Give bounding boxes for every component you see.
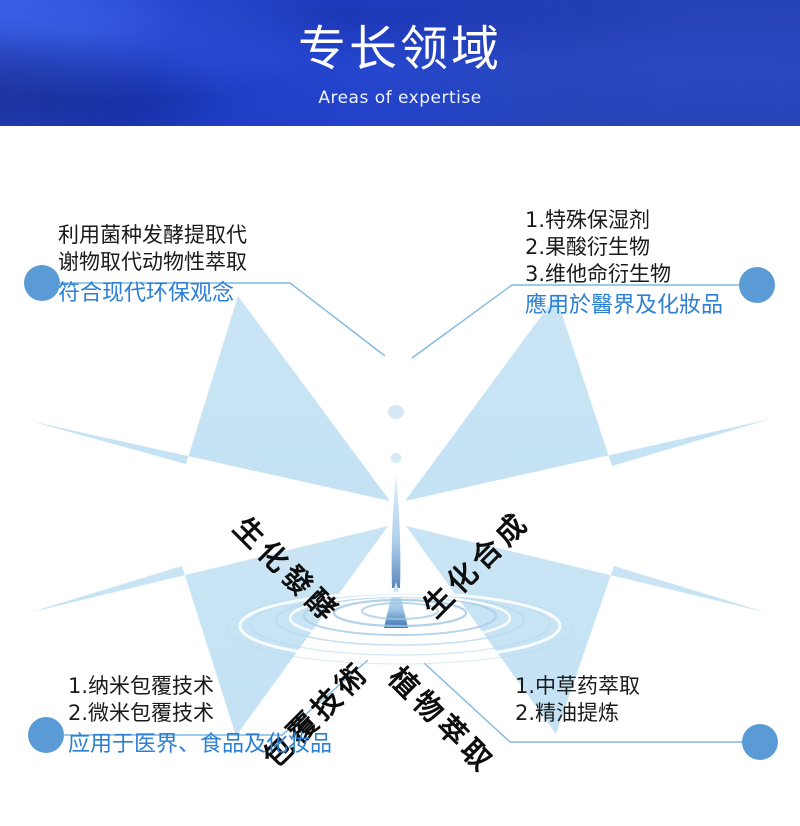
block-tag: 符合现代环保观念 (58, 279, 247, 309)
petal-synthesis (405, 296, 770, 501)
block-line: 3.维他命衍生物 (525, 261, 723, 288)
connector-dot-bottom-right (742, 724, 778, 760)
block-line: 1.纳米包覆技术 (68, 673, 332, 700)
petal-fermentation (30, 296, 390, 501)
block-line: 2.微米包覆技术 (68, 700, 332, 727)
block-tag: 應用於醫界及化妝品 (525, 291, 723, 321)
text-block-top-right: 1.特殊保湿剂 2.果酸衍生物 3.维他命衍生物 應用於醫界及化妝品 (525, 207, 723, 321)
text-block-bottom-left: 1.纳米包覆技术 2.微米包覆技术 应用于医界、食品及化妆品 (68, 673, 332, 760)
text-block-bottom-right: 1.中草药萃取 2.精油提炼 (515, 673, 640, 727)
block-line: 1.中草药萃取 (515, 673, 640, 700)
page-subtitle: Areas of expertise (0, 88, 800, 108)
connector-dot-top-right (739, 267, 775, 303)
banner-inner: 专长领域 Areas of expertise (0, 0, 800, 126)
block-line: 2.果酸衍生物 (525, 234, 723, 261)
block-tag: 应用于医界、食品及化妆品 (68, 730, 332, 760)
page-title: 专长领域 (0, 22, 800, 76)
connector-dot-top-left (24, 265, 60, 301)
block-line: 2.精油提炼 (515, 700, 640, 727)
block-line: 利用菌种发酵提取代 (58, 222, 247, 249)
connector-dot-bottom-left (28, 717, 64, 753)
page-header-banner: 专长领域 Areas of expertise (0, 0, 800, 126)
block-line: 1.特殊保湿剂 (525, 207, 723, 234)
text-block-top-left: 利用菌种发酵提取代 谢物取代动物性萃取 符合现代环保观念 (58, 222, 247, 309)
block-line: 谢物取代动物性萃取 (58, 249, 247, 276)
